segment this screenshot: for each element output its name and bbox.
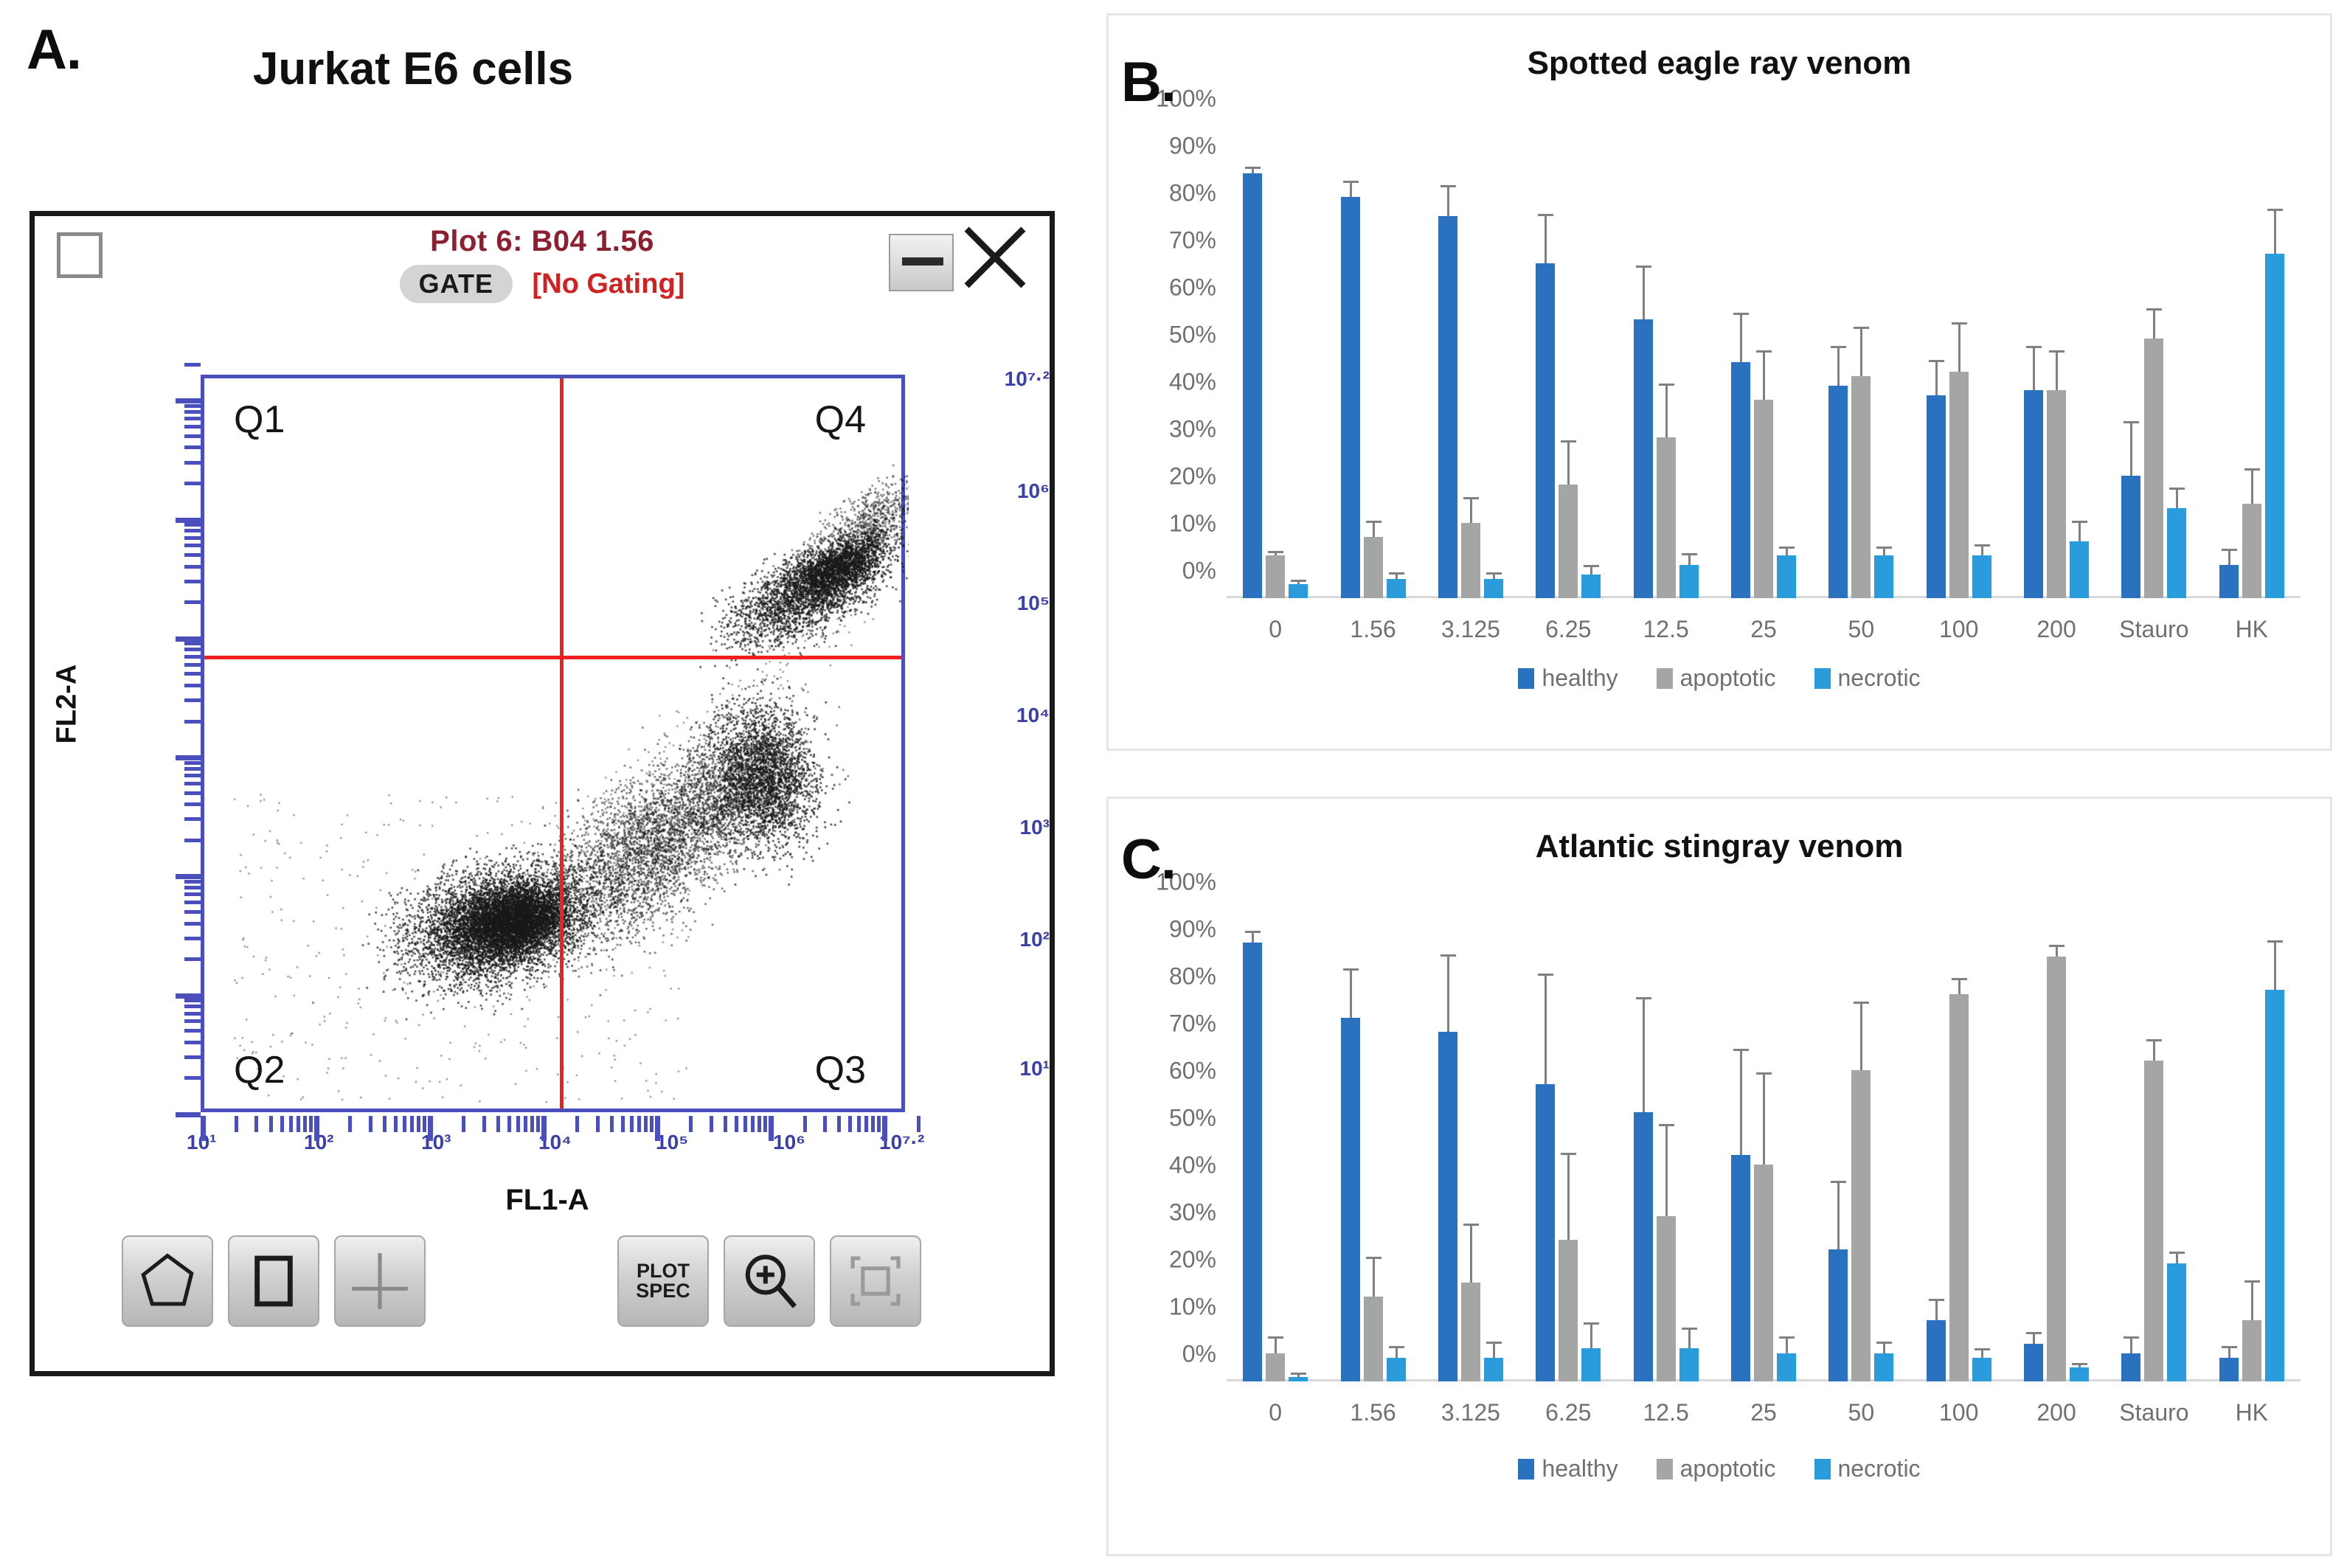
error-bar xyxy=(1643,268,1645,319)
error-bar xyxy=(1688,1330,1691,1349)
rectangle-gate-button[interactable] xyxy=(228,1235,319,1327)
error-bar-cap xyxy=(1389,572,1404,575)
chart-c-title: Atlantic stingray venom xyxy=(1109,828,2330,865)
y-axis-tick xyxy=(184,1012,201,1016)
legend-label: apoptotic xyxy=(1680,1455,1776,1482)
error-bar-cap xyxy=(2244,468,2260,471)
error-bar-cap xyxy=(1441,954,1456,957)
y-axis-tick xyxy=(176,874,201,879)
y-axis-tick xyxy=(184,922,201,926)
error-bar xyxy=(1275,1339,1277,1353)
x-axis-tick xyxy=(758,1116,761,1132)
x-axis-tick xyxy=(877,1116,881,1132)
error-bar xyxy=(1447,187,1449,215)
x-axis-tick xyxy=(644,1116,648,1132)
bar-apoptotic xyxy=(2242,504,2261,598)
x-axis-tick xyxy=(348,1116,352,1132)
error-bar xyxy=(2033,1334,2035,1344)
y-tick-label: 10² xyxy=(891,928,1050,951)
y-tick-label: 10% xyxy=(1169,1294,1216,1321)
x-category-label: 50 xyxy=(1848,1399,1875,1426)
y-axis-tick xyxy=(184,1041,201,1044)
error-bar-cap xyxy=(1929,1299,1944,1301)
bar-necrotic xyxy=(1874,1353,1893,1381)
y-tick-label: 10⁴ xyxy=(891,704,1050,727)
bar-healthy xyxy=(2219,565,2239,598)
y-axis-tick xyxy=(176,398,201,403)
bar-group: 100 xyxy=(1910,909,2008,1381)
y-axis-tick xyxy=(184,404,201,408)
x-axis-tick xyxy=(383,1116,386,1132)
y-axis-tick xyxy=(184,642,201,645)
legend-item[interactable]: necrotic xyxy=(1814,1455,1921,1482)
x-axis-tick xyxy=(575,1116,579,1132)
y-tick-label: 20% xyxy=(1169,1246,1216,1274)
error-bar xyxy=(1981,547,1983,556)
bar-healthy xyxy=(1341,197,1360,598)
error-bar-cap xyxy=(1268,551,1283,553)
bar-healthy xyxy=(2121,1353,2140,1381)
error-bar xyxy=(1297,582,1300,584)
legend-label: necrotic xyxy=(1838,1455,1921,1482)
x-category-label: 0 xyxy=(1269,616,1282,643)
chart-b-plot-area: 0%10%20%30%40%50%60%70%80%90%100%01.563.… xyxy=(1227,126,2301,598)
x-axis-tick xyxy=(655,1116,660,1141)
error-bar-cap xyxy=(1682,553,1697,555)
error-bar xyxy=(2153,1041,2155,1061)
error-bar-cap xyxy=(2146,308,2162,311)
y-axis-tick xyxy=(176,518,201,523)
y-tick-label: 80% xyxy=(1169,963,1216,991)
y-tick-label: 30% xyxy=(1169,416,1216,443)
x-axis-tick xyxy=(882,1116,887,1141)
error-bar-cap xyxy=(1831,1181,1846,1183)
bar-necrotic xyxy=(1777,1353,1796,1381)
y-axis-tick xyxy=(184,684,201,687)
error-bar-cap xyxy=(1779,547,1795,549)
legend-item[interactable]: apoptotic xyxy=(1657,665,1776,692)
error-bar xyxy=(1740,1051,1742,1155)
error-bar xyxy=(1396,1348,1398,1358)
y-axis-tick xyxy=(184,774,201,777)
x-axis-tick xyxy=(823,1116,827,1132)
error-bar xyxy=(2228,551,2230,565)
bar-necrotic xyxy=(1972,555,1991,598)
bar-healthy xyxy=(1438,1032,1457,1381)
bar-apoptotic xyxy=(2144,1061,2163,1381)
bar-healthy xyxy=(1438,216,1457,598)
error-bar-cap xyxy=(1584,565,1599,567)
bar-group: HK xyxy=(2203,126,2301,598)
bar-necrotic xyxy=(1679,1348,1699,1381)
error-bar xyxy=(2274,211,2276,254)
x-category-label: 12.5 xyxy=(1643,616,1688,643)
bar-apoptotic xyxy=(1754,400,1773,598)
error-bar xyxy=(1373,1259,1375,1297)
polygon-gate-button[interactable] xyxy=(122,1235,213,1327)
error-bar xyxy=(2079,523,2081,542)
error-bar-cap xyxy=(1291,580,1306,582)
bar-group: 25 xyxy=(1715,126,1812,598)
error-bar xyxy=(1763,1075,1765,1165)
bar-necrotic xyxy=(1777,555,1796,598)
y-axis-tick xyxy=(184,880,201,884)
error-bar xyxy=(1837,348,1840,386)
close-icon[interactable] xyxy=(960,222,1030,293)
x-axis-tick xyxy=(710,1116,713,1132)
error-bar xyxy=(1883,549,1885,556)
y-axis-tick xyxy=(184,600,201,604)
error-bar xyxy=(1763,353,1765,400)
x-category-label: 3.125 xyxy=(1441,1399,1500,1426)
legend-label: healthy xyxy=(1542,1455,1618,1482)
error-bar-cap xyxy=(2222,549,2237,551)
panel-c-card: Atlantic stingray venom 0%10%20%30%40%50… xyxy=(1106,797,2332,1556)
fit-plot-button[interactable] xyxy=(830,1235,921,1327)
y-axis-tick xyxy=(184,655,201,659)
y-axis-tick xyxy=(184,720,201,724)
error-bar xyxy=(1688,555,1691,565)
x-category-label: 100 xyxy=(1939,616,1978,643)
y-tick-label: 0% xyxy=(1182,558,1216,585)
gate-status-label: [No Gating] xyxy=(532,268,684,300)
x-category-label: 25 xyxy=(1750,1399,1777,1426)
error-bar xyxy=(1447,957,1449,1032)
x-axis-tick xyxy=(496,1116,500,1132)
y-axis-tick xyxy=(184,663,201,667)
error-bar xyxy=(2251,1283,2253,1320)
bar-healthy xyxy=(1927,1320,1946,1381)
minimize-icon[interactable] xyxy=(889,234,954,291)
bar-healthy xyxy=(1243,173,1262,598)
y-axis-tick xyxy=(184,536,201,540)
x-axis-tick xyxy=(864,1116,868,1132)
panel-c-letter: C. xyxy=(1121,828,1176,892)
error-bar xyxy=(1935,362,1938,395)
x-axis-tick xyxy=(507,1116,511,1132)
x-axis-tick xyxy=(848,1116,852,1132)
y-axis-tick xyxy=(184,461,201,465)
error-bar-cap xyxy=(2049,945,2065,947)
error-bar xyxy=(1981,1350,1983,1358)
error-bar-cap xyxy=(2124,421,2139,423)
y-axis-tick xyxy=(184,482,201,485)
x-axis-tick xyxy=(541,1116,547,1141)
y-axis-tick xyxy=(184,839,201,842)
x-axis-tick xyxy=(837,1116,841,1132)
error-bar-cap xyxy=(1952,322,1967,325)
panel-a-flow-cytometry: A. Jurkat E6 cells Plot 6: B04 1.56 GATE… xyxy=(0,0,1084,1568)
legend-swatch xyxy=(1657,1459,1673,1479)
y-tick-label: 20% xyxy=(1169,463,1216,490)
error-bar xyxy=(1935,1301,1938,1320)
x-category-label: 200 xyxy=(2036,616,2076,643)
error-bar-cap xyxy=(1366,521,1381,523)
error-bar xyxy=(1396,575,1398,579)
y-tick-label: 90% xyxy=(1169,916,1216,943)
quadrant-label-q4: Q4 xyxy=(815,398,866,442)
plot-spec-button[interactable]: PLOT SPEC xyxy=(617,1235,709,1327)
x-axis-tick xyxy=(735,1116,738,1132)
error-bar xyxy=(1350,971,1352,1018)
y-axis-tick xyxy=(184,1076,201,1080)
legend-label: necrotic xyxy=(1838,665,1921,691)
y-tick-label: 10¹ xyxy=(891,1057,1050,1080)
error-bar-cap xyxy=(1538,974,1553,976)
x-axis-tick xyxy=(309,1116,313,1132)
y-tick-label: 80% xyxy=(1169,180,1216,207)
legend-item[interactable]: apoptotic xyxy=(1657,1455,1776,1482)
x-axis-tick xyxy=(269,1116,273,1132)
bar-apoptotic xyxy=(2047,957,2066,1381)
y-tick-label: 60% xyxy=(1169,274,1216,302)
x-axis-tick xyxy=(803,1116,807,1132)
gate-button[interactable]: GATE xyxy=(400,265,513,303)
y-axis-tick xyxy=(184,434,201,438)
y-axis-tick xyxy=(184,999,201,1002)
error-bar-cap xyxy=(1538,214,1553,216)
x-axis-tick xyxy=(482,1116,486,1132)
bar-healthy xyxy=(1536,263,1555,598)
error-bar xyxy=(2130,423,2132,475)
y-axis-tick xyxy=(184,1005,201,1008)
quadrant-horizontal-line[interactable] xyxy=(204,656,901,659)
y-axis-tick xyxy=(184,565,201,569)
y-tick-label: 10⁵ xyxy=(891,592,1050,615)
error-bar-cap xyxy=(1952,978,1967,980)
error-bar-cap xyxy=(1245,931,1261,933)
x-category-label: 1.56 xyxy=(1350,616,1396,643)
y-axis-tick xyxy=(184,523,201,527)
error-bar-cap xyxy=(1291,1373,1306,1375)
error-bar-cap xyxy=(1659,1124,1674,1126)
error-bar xyxy=(1665,1126,1668,1216)
bar-necrotic xyxy=(2265,990,2284,1381)
x-axis-tick xyxy=(596,1116,600,1132)
error-bar-cap xyxy=(1463,1224,1479,1226)
bar-apoptotic xyxy=(1266,1353,1285,1381)
x-axis-tick xyxy=(423,1116,426,1132)
x-axis-tick xyxy=(403,1116,406,1132)
x-axis-tick xyxy=(410,1116,414,1132)
y-axis-tick xyxy=(176,1112,201,1117)
x-axis-tick xyxy=(516,1116,520,1132)
x-axis-tick xyxy=(303,1116,307,1132)
x-axis-tick xyxy=(637,1116,641,1132)
error-bar xyxy=(1252,169,1254,173)
flow-window-titlebar: Plot 6: B04 1.56 GATE [No Gating] xyxy=(35,216,1050,327)
bar-apoptotic xyxy=(1657,437,1676,598)
error-bar-cap xyxy=(1756,1072,1772,1075)
error-bar-cap xyxy=(1876,1342,1892,1344)
bar-healthy xyxy=(2219,1358,2239,1381)
bar-apoptotic xyxy=(1364,537,1383,598)
bar-apoptotic xyxy=(1754,1165,1773,1381)
error-bar-cap xyxy=(2244,1280,2260,1283)
bar-necrotic xyxy=(1581,575,1601,598)
x-axis-tick xyxy=(769,1116,774,1141)
error-bar-cap xyxy=(1561,1153,1576,1155)
bar-necrotic xyxy=(1484,579,1503,598)
bar-necrotic xyxy=(1874,555,1893,598)
panel-a-title: Jurkat E6 cells xyxy=(44,43,782,95)
x-axis-tick xyxy=(201,1116,206,1141)
error-bar-cap xyxy=(1659,384,1674,386)
x-axis-tick xyxy=(536,1116,540,1132)
y-tick-label: 70% xyxy=(1169,227,1216,254)
x-tick-label: 10⁶ xyxy=(773,1131,805,1154)
bar-group: 0 xyxy=(1227,126,1324,598)
chart-c-plot-area: 0%10%20%30%40%50%60%70%80%90%100%01.563.… xyxy=(1227,909,2301,1381)
bar-apoptotic xyxy=(1851,376,1871,598)
zoom-in-button[interactable] xyxy=(724,1235,815,1327)
y-axis-tick xyxy=(184,410,201,414)
error-bar-cap xyxy=(1441,185,1456,187)
bar-group: 200 xyxy=(2008,909,2105,1381)
bar-necrotic xyxy=(1289,1377,1308,1381)
error-bar xyxy=(1860,1004,1862,1070)
x-axis-tick xyxy=(857,1116,861,1132)
chart-b-legend: healthyapoptoticnecrotic xyxy=(1109,665,2330,692)
error-bar xyxy=(1786,1339,1788,1353)
y-axis-tick xyxy=(184,802,201,806)
bar-apoptotic xyxy=(1461,1283,1480,1381)
error-bar-cap xyxy=(2124,1336,2139,1339)
y-tick-label: 10% xyxy=(1169,510,1216,538)
x-axis-tick xyxy=(394,1116,398,1132)
y-axis-tick xyxy=(184,417,201,420)
error-bar xyxy=(1786,549,1788,556)
x-axis-tick xyxy=(462,1116,465,1132)
error-bar xyxy=(1567,443,1570,485)
error-bar-cap xyxy=(1854,1002,1869,1004)
y-tick-label: 40% xyxy=(1169,369,1216,396)
bar-healthy xyxy=(1634,319,1653,598)
legend-item[interactable]: healthy xyxy=(1518,1455,1618,1482)
x-axis-tick xyxy=(689,1116,693,1132)
error-bar-cap xyxy=(1636,266,1651,268)
error-bar xyxy=(1958,980,1961,994)
bar-group: 3.125 xyxy=(1422,909,1519,1381)
x-axis-tick xyxy=(280,1116,284,1132)
x-category-label: Stauro xyxy=(2119,1399,2188,1426)
error-bar xyxy=(1643,999,1645,1113)
bar-healthy xyxy=(2121,476,2140,598)
error-bar-cap xyxy=(1975,544,1990,547)
bar-healthy xyxy=(1927,395,1946,598)
x-category-label: Stauro xyxy=(2119,616,2188,643)
y-axis-tick xyxy=(184,648,201,651)
x-category-label: 200 xyxy=(2036,1399,2076,1426)
error-bar-cap xyxy=(1975,1348,1990,1350)
y-axis-tick xyxy=(184,698,201,702)
x-category-label: HK xyxy=(2236,1399,2268,1426)
bar-necrotic xyxy=(2167,508,2186,598)
error-bar-cap xyxy=(2026,346,2042,348)
scatter-plot-area[interactable]: Q1 Q4 Q2 Q3 xyxy=(201,375,905,1112)
error-bar-cap xyxy=(2146,1039,2162,1041)
y-tick-label: 70% xyxy=(1169,1010,1216,1038)
error-bar-cap xyxy=(2267,209,2283,211)
error-bar xyxy=(1567,1155,1570,1240)
x-axis-tick xyxy=(743,1116,747,1132)
bar-necrotic xyxy=(2070,541,2089,598)
y-axis-tick xyxy=(184,817,201,821)
error-bar xyxy=(2274,943,2276,990)
y-axis-tick xyxy=(184,672,201,676)
y-axis-tick xyxy=(184,761,201,765)
error-bar-cap xyxy=(1366,1257,1381,1259)
legend-swatch xyxy=(1518,1459,1534,1479)
error-bar xyxy=(1493,575,1495,579)
error-bar-cap xyxy=(2169,1252,2185,1254)
error-bar-cap xyxy=(1486,572,1502,575)
bar-group: 1.56 xyxy=(1324,909,1421,1381)
bar-necrotic xyxy=(2167,1263,2186,1381)
x-axis-tick xyxy=(254,1116,258,1132)
x-axis-tick xyxy=(428,1116,433,1141)
y-axis-tick xyxy=(184,445,201,449)
scatter-dots xyxy=(204,378,909,1116)
y-tick-label: 90% xyxy=(1169,133,1216,160)
y-axis-tick xyxy=(184,782,201,785)
y-axis-tick xyxy=(176,636,201,642)
quadrant-vertical-line[interactable] xyxy=(560,378,564,1109)
error-bar-cap xyxy=(1733,1049,1749,1051)
x-axis-tick xyxy=(650,1116,654,1132)
x-tick-label: 10³ xyxy=(421,1131,451,1154)
legend-swatch xyxy=(1518,668,1534,689)
error-bar-cap xyxy=(1682,1328,1697,1330)
error-bar-cap xyxy=(2072,521,2087,523)
error-bar xyxy=(2251,471,2253,504)
error-bar-cap xyxy=(1389,1346,1404,1348)
x-axis-tick xyxy=(530,1116,534,1132)
error-bar-cap xyxy=(1831,346,1846,348)
plot-spec-label: PLOT SPEC xyxy=(619,1261,707,1301)
y-tick-label: 10⁶ xyxy=(891,479,1050,503)
panel-b-letter: B. xyxy=(1121,50,1176,114)
error-bar-cap xyxy=(2169,488,2185,490)
x-axis-tick xyxy=(630,1116,634,1132)
error-bar xyxy=(1590,1325,1592,1348)
bar-necrotic xyxy=(1581,1348,1601,1381)
x-category-label: 50 xyxy=(1848,616,1875,643)
bar-healthy xyxy=(2024,390,2043,598)
bar-healthy xyxy=(1634,1112,1653,1381)
error-bar-cap xyxy=(1854,327,1869,329)
error-bar xyxy=(1275,553,1277,555)
y-axis-tick xyxy=(184,886,201,889)
y-tick-label: 10⁷·² xyxy=(891,367,1050,391)
bar-group: 100 xyxy=(1910,126,2008,598)
x-category-label: 100 xyxy=(1939,1399,1978,1426)
legend-item[interactable]: healthy xyxy=(1518,665,1618,692)
bar-group: 3.125 xyxy=(1422,126,1519,598)
y-tick-label: 50% xyxy=(1169,1105,1216,1132)
error-bar-cap xyxy=(1343,968,1359,971)
error-bar xyxy=(1493,1344,1495,1358)
y-axis-tick xyxy=(184,544,201,547)
bar-group: Stauro xyxy=(2105,126,2202,598)
quadrant-gate-button[interactable] xyxy=(334,1235,426,1327)
panel-b-card: Spotted eagle ray venom 0%10%20%30%40%50… xyxy=(1106,13,2332,751)
error-bar xyxy=(1373,523,1375,537)
bar-apoptotic xyxy=(2144,339,2163,598)
y-axis-tick xyxy=(184,937,201,940)
legend-item[interactable]: necrotic xyxy=(1814,665,1921,692)
x-axis-tick xyxy=(297,1116,300,1132)
